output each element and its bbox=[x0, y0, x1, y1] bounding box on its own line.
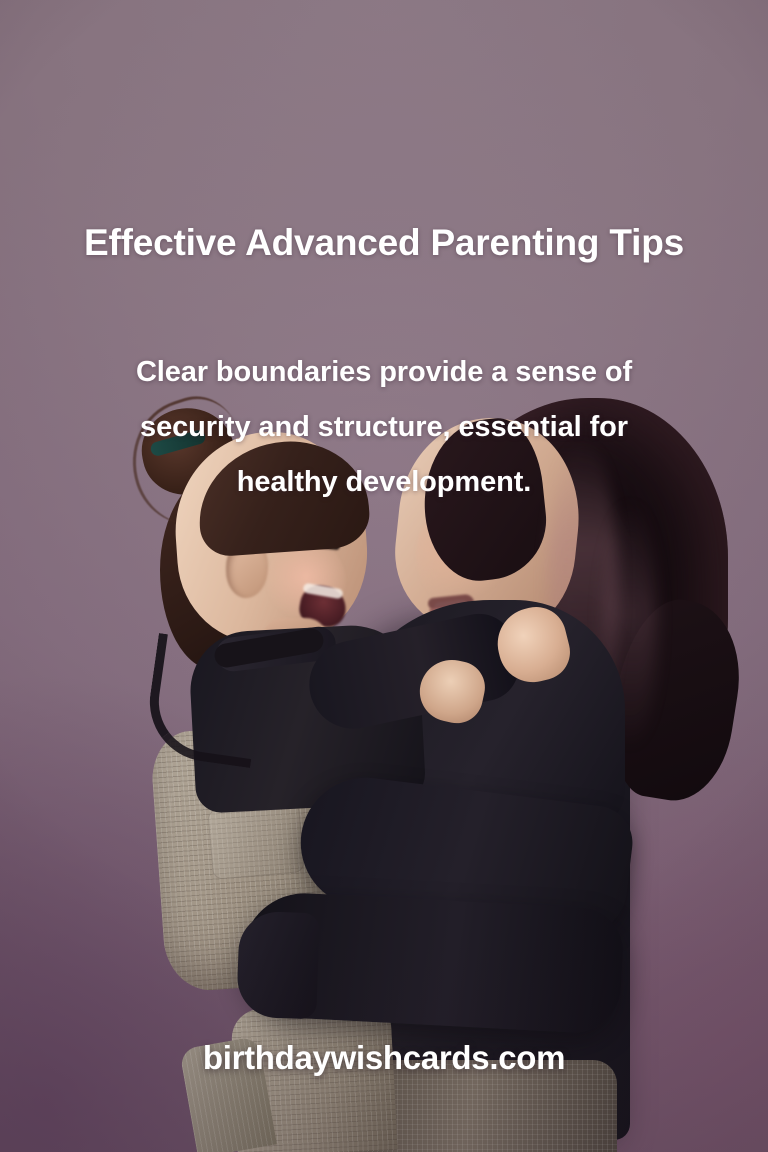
site-url-watermark: birthdaywishcards.com bbox=[0, 1036, 768, 1080]
subhead-line-4: healthy development. bbox=[237, 466, 532, 498]
pinterest-pin-graphic: Effective Advanced Parenting Tips Clear … bbox=[0, 0, 768, 1152]
headline-line-2: Tips bbox=[609, 222, 684, 263]
text-overlay: Effective Advanced Parenting Tips Clear … bbox=[0, 0, 768, 1152]
headline-line-1: Effective Advanced Parenting bbox=[84, 222, 599, 263]
subtitle-text: Clear boundaries provide a sense of secu… bbox=[125, 345, 643, 510]
subhead-line-1: Clear boundaries provide a bbox=[136, 356, 507, 388]
subhead-line-3: structure, essential for bbox=[318, 411, 628, 443]
page-title: Effective Advanced Parenting Tips bbox=[30, 217, 738, 269]
